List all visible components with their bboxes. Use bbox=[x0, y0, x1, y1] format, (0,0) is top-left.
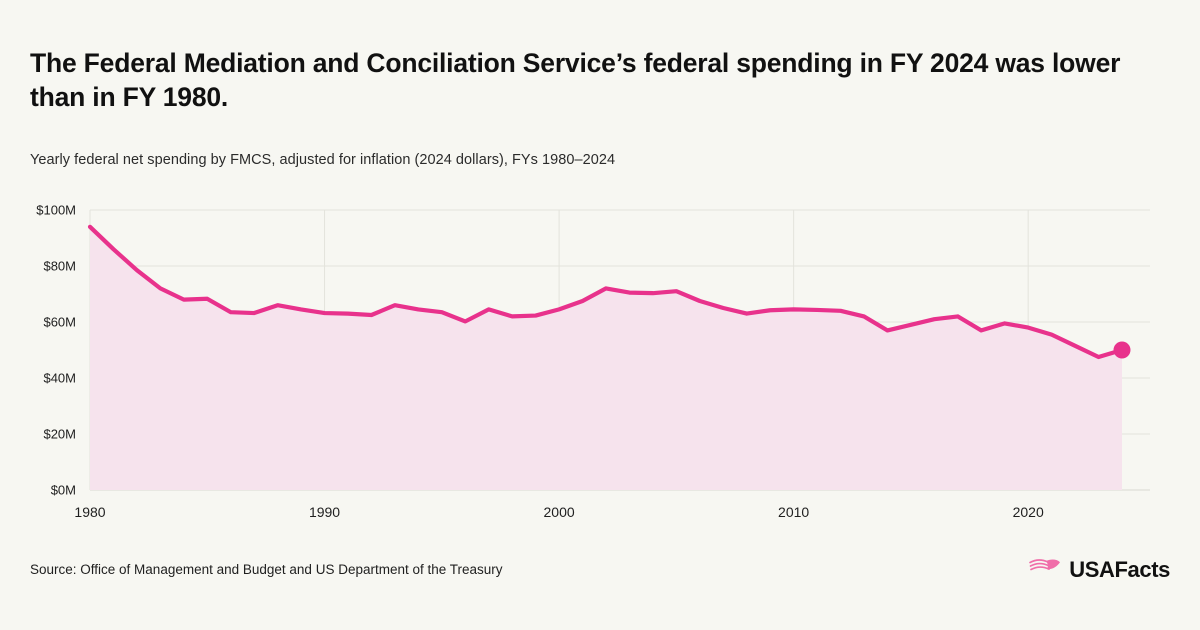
y-axis-labels: $0M$20M$40M$60M$80M$100M bbox=[36, 203, 76, 498]
y-axis-tick-label: $20M bbox=[43, 427, 76, 442]
y-axis-tick-label: $80M bbox=[43, 259, 76, 274]
x-axis-tick-label: 2000 bbox=[544, 504, 575, 520]
y-axis-tick-label: $0M bbox=[51, 483, 76, 498]
end-point-marker bbox=[1114, 342, 1131, 359]
usafacts-logo[interactable]: USAFacts bbox=[1028, 556, 1170, 583]
x-axis-tick-label: 2010 bbox=[778, 504, 809, 520]
chart-area: $0M$20M$40M$60M$80M$100M 198019902000201… bbox=[0, 196, 1200, 536]
chart-subtitle: Yearly federal net spending by FMCS, adj… bbox=[30, 152, 1160, 168]
x-axis-tick-label: 1990 bbox=[309, 504, 340, 520]
usafacts-wordmark: USAFacts bbox=[1069, 557, 1170, 583]
x-axis-tick-label: 1980 bbox=[74, 504, 105, 520]
y-axis-tick-label: $100M bbox=[36, 203, 76, 218]
y-axis-tick-label: $40M bbox=[43, 371, 76, 386]
spending-area-chart: $0M$20M$40M$60M$80M$100M 198019902000201… bbox=[0, 196, 1200, 536]
x-axis-tick-label: 2020 bbox=[1013, 504, 1044, 520]
y-axis-tick-label: $60M bbox=[43, 315, 76, 330]
source-note: Source: Office of Management and Budget … bbox=[30, 562, 503, 577]
usafacts-flag-icon bbox=[1028, 556, 1062, 583]
x-axis-labels: 19801990200020102020 bbox=[74, 504, 1044, 520]
page-title: The Federal Mediation and Conciliation S… bbox=[30, 46, 1160, 115]
chart-card: The Federal Mediation and Conciliation S… bbox=[0, 0, 1200, 630]
